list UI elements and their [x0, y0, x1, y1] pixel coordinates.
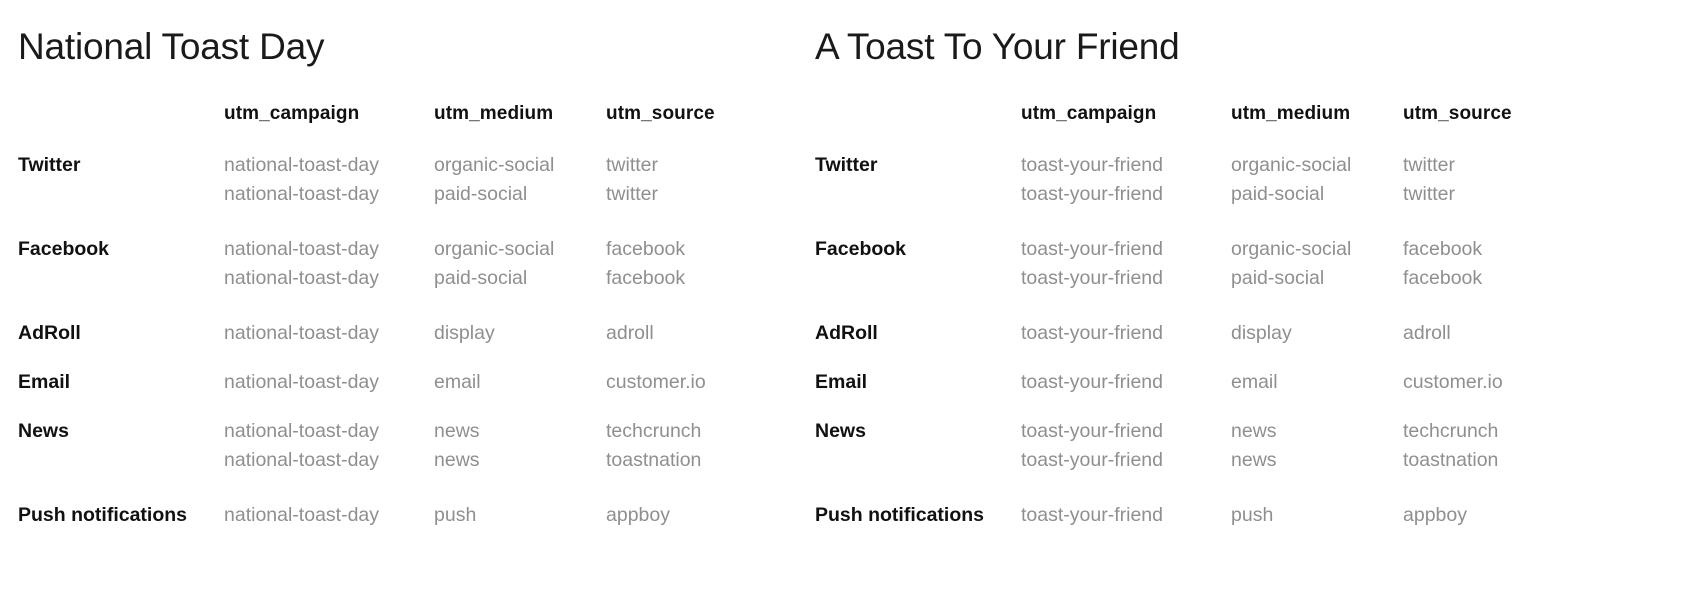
cell-line: national-toast-day: [224, 235, 434, 264]
cell-line: facebook: [606, 264, 778, 293]
cell-utm-medium: news news: [434, 417, 606, 501]
page-title: A Toast To Your Friend: [815, 0, 1682, 65]
cell-line: toast-your-friend: [1021, 368, 1231, 397]
cell-utm-source: appboy: [1403, 501, 1575, 530]
channel-label: AdRoll: [18, 319, 224, 368]
cell-line: display: [1231, 319, 1403, 348]
cell-utm-source: twitter twitter: [606, 151, 778, 235]
cell-utm-medium: organic-social paid-social: [434, 235, 606, 319]
campaign-panel-a-toast-to-your-friend: A Toast To Your Friend utm_campaign utm_…: [800, 0, 1682, 530]
channel-label: Email: [815, 368, 1021, 417]
column-header-utm-medium: utm_medium: [1231, 103, 1403, 151]
cell-line: toastnation: [1403, 446, 1575, 475]
table-row: Facebook toast-your-friend toast-your-fr…: [815, 235, 1575, 319]
cell-line: national-toast-day: [224, 319, 434, 348]
cell-line: paid-social: [1231, 180, 1403, 209]
utm-table: utm_campaign utm_medium utm_source Twitt…: [815, 103, 1575, 530]
cell-line: news: [434, 446, 606, 475]
cell-utm-medium: organic-social paid-social: [1231, 235, 1403, 319]
cell-line: toast-your-friend: [1021, 417, 1231, 446]
cell-line: news: [434, 417, 606, 446]
cell-line: organic-social: [1231, 235, 1403, 264]
cell-utm-source: customer.io: [1403, 368, 1575, 417]
cell-line: twitter: [1403, 151, 1575, 180]
cell-line: display: [434, 319, 606, 348]
table-row: Push notifications toast-your-friend pus…: [815, 501, 1575, 530]
cell-line: national-toast-day: [224, 151, 434, 180]
table-row: AdRoll national-toast-day display adroll: [18, 319, 778, 368]
cell-utm-source: techcrunch toastnation: [1403, 417, 1575, 501]
table-row: Email national-toast-day email customer.…: [18, 368, 778, 417]
cell-utm-source: twitter twitter: [1403, 151, 1575, 235]
cell-utm-medium: display: [1231, 319, 1403, 368]
cell-utm-medium: email: [1231, 368, 1403, 417]
cell-line: news: [1231, 446, 1403, 475]
cell-line: appboy: [606, 501, 778, 530]
channel-label: Twitter: [18, 151, 224, 235]
cell-line: email: [434, 368, 606, 397]
cell-line: paid-social: [434, 264, 606, 293]
table-row: News toast-your-friend toast-your-friend…: [815, 417, 1575, 501]
cell-line: national-toast-day: [224, 446, 434, 475]
table-header-row: utm_campaign utm_medium utm_source: [815, 103, 1575, 151]
cell-line: toast-your-friend: [1021, 319, 1231, 348]
table-row: Push notifications national-toast-day pu…: [18, 501, 778, 530]
cell-line: twitter: [606, 151, 778, 180]
cell-line: facebook: [1403, 264, 1575, 293]
cell-line: national-toast-day: [224, 501, 434, 530]
cell-line: adroll: [1403, 319, 1575, 348]
cell-utm-source: adroll: [606, 319, 778, 368]
cell-utm-source: facebook facebook: [606, 235, 778, 319]
column-header-channel: [18, 103, 224, 151]
cell-line: national-toast-day: [224, 180, 434, 209]
cell-line: customer.io: [606, 368, 778, 397]
cell-line: twitter: [1403, 180, 1575, 209]
cell-line: push: [1231, 501, 1403, 530]
utm-table: utm_campaign utm_medium utm_source Twitt…: [18, 103, 778, 530]
cell-utm-source: facebook facebook: [1403, 235, 1575, 319]
cell-utm-source: customer.io: [606, 368, 778, 417]
channel-label: Push notifications: [815, 501, 1021, 530]
cell-line: techcrunch: [1403, 417, 1575, 446]
cell-line: paid-social: [434, 180, 606, 209]
cell-line: adroll: [606, 319, 778, 348]
cell-line: toast-your-friend: [1021, 151, 1231, 180]
table-row: News national-toast-day national-toast-d…: [18, 417, 778, 501]
cell-utm-campaign: national-toast-day national-toast-day: [224, 235, 434, 319]
page-root: National Toast Day utm_campaign utm_medi…: [0, 0, 1682, 598]
cell-line: paid-social: [1231, 264, 1403, 293]
cell-utm-campaign: toast-your-friend: [1021, 319, 1231, 368]
cell-line: facebook: [1403, 235, 1575, 264]
cell-utm-medium: news news: [1231, 417, 1403, 501]
cell-line: techcrunch: [606, 417, 778, 446]
cell-line: push: [434, 501, 606, 530]
table-body: Twitter national-toast-day national-toas…: [18, 151, 778, 530]
table-row: Twitter national-toast-day national-toas…: [18, 151, 778, 235]
channel-label: News: [815, 417, 1021, 501]
page-title: National Toast Day: [18, 0, 800, 65]
cell-line: national-toast-day: [224, 417, 434, 446]
cell-utm-medium: push: [434, 501, 606, 530]
channel-label: Twitter: [815, 151, 1021, 235]
cell-utm-campaign: toast-your-friend: [1021, 501, 1231, 530]
cell-utm-campaign: toast-your-friend toast-your-friend: [1021, 235, 1231, 319]
column-header-utm-source: utm_source: [1403, 103, 1575, 151]
column-header-utm-campaign: utm_campaign: [224, 103, 434, 151]
cell-utm-campaign: national-toast-day national-toast-day: [224, 417, 434, 501]
cell-line: twitter: [606, 180, 778, 209]
cell-line: toast-your-friend: [1021, 446, 1231, 475]
column-header-utm-campaign: utm_campaign: [1021, 103, 1231, 151]
cell-utm-medium: organic-social paid-social: [1231, 151, 1403, 235]
channel-label: News: [18, 417, 224, 501]
cell-line: organic-social: [434, 235, 606, 264]
table-row: Twitter toast-your-friend toast-your-fri…: [815, 151, 1575, 235]
column-header-utm-source: utm_source: [606, 103, 778, 151]
cell-line: toast-your-friend: [1021, 180, 1231, 209]
channel-label: Push notifications: [18, 501, 224, 530]
panels-container: National Toast Day utm_campaign utm_medi…: [0, 0, 1682, 530]
cell-utm-source: adroll: [1403, 319, 1575, 368]
cell-utm-source: techcrunch toastnation: [606, 417, 778, 501]
cell-utm-source: appboy: [606, 501, 778, 530]
cell-line: toast-your-friend: [1021, 235, 1231, 264]
cell-line: email: [1231, 368, 1403, 397]
column-header-utm-medium: utm_medium: [434, 103, 606, 151]
cell-utm-medium: push: [1231, 501, 1403, 530]
cell-utm-campaign: toast-your-friend: [1021, 368, 1231, 417]
cell-utm-medium: display: [434, 319, 606, 368]
channel-label: AdRoll: [815, 319, 1021, 368]
channel-label: Facebook: [815, 235, 1021, 319]
cell-line: toastnation: [606, 446, 778, 475]
cell-line: facebook: [606, 235, 778, 264]
cell-line: organic-social: [1231, 151, 1403, 180]
table-header: utm_campaign utm_medium utm_source: [18, 103, 778, 151]
cell-line: organic-social: [434, 151, 606, 180]
cell-utm-campaign: national-toast-day national-toast-day: [224, 151, 434, 235]
table-row: AdRoll toast-your-friend display adroll: [815, 319, 1575, 368]
table-row: Email toast-your-friend email customer.i…: [815, 368, 1575, 417]
cell-line: toast-your-friend: [1021, 501, 1231, 530]
cell-utm-campaign: national-toast-day: [224, 319, 434, 368]
cell-line: customer.io: [1403, 368, 1575, 397]
table-row: Facebook national-toast-day national-toa…: [18, 235, 778, 319]
cell-utm-medium: organic-social paid-social: [434, 151, 606, 235]
cell-line: national-toast-day: [224, 368, 434, 397]
table-header-row: utm_campaign utm_medium utm_source: [18, 103, 778, 151]
table-header: utm_campaign utm_medium utm_source: [815, 103, 1575, 151]
channel-label: Email: [18, 368, 224, 417]
cell-line: appboy: [1403, 501, 1575, 530]
cell-line: national-toast-day: [224, 264, 434, 293]
cell-line: toast-your-friend: [1021, 264, 1231, 293]
cell-utm-medium: email: [434, 368, 606, 417]
cell-utm-campaign: toast-your-friend toast-your-friend: [1021, 417, 1231, 501]
cell-line: news: [1231, 417, 1403, 446]
campaign-panel-national-toast-day: National Toast Day utm_campaign utm_medi…: [0, 0, 800, 530]
channel-label: Facebook: [18, 235, 224, 319]
cell-utm-campaign: national-toast-day: [224, 368, 434, 417]
table-body: Twitter toast-your-friend toast-your-fri…: [815, 151, 1575, 530]
cell-utm-campaign: toast-your-friend toast-your-friend: [1021, 151, 1231, 235]
column-header-channel: [815, 103, 1021, 151]
cell-utm-campaign: national-toast-day: [224, 501, 434, 530]
